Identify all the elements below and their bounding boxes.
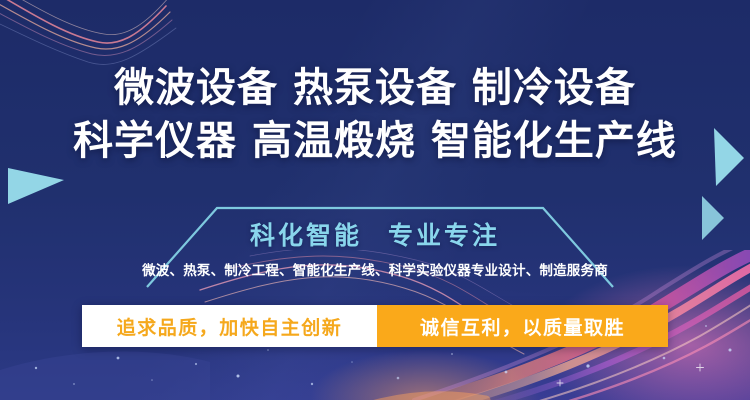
subtitle-left: 科化智能 xyxy=(250,221,362,250)
tagline-text: 微波、热泵、制冷工程、智能化生产线、科学实验仪器专业设计、制造服务商 xyxy=(0,262,750,280)
subtitle-block: 科化智能专业专注 xyxy=(0,219,750,252)
promo-banner: 微波设备 热泵设备 制冷设备 科学仪器 高温煅烧 智能化生产线 科化智能专业专注… xyxy=(0,0,750,400)
headline-block: 微波设备 热泵设备 制冷设备 科学仪器 高温煅烧 智能化生产线 xyxy=(0,62,750,168)
headline-line-1: 微波设备 热泵设备 制冷设备 xyxy=(0,62,750,115)
slogan-ribbon-right: 诚信互利，以质量取胜 xyxy=(377,305,668,347)
subtitle-right: 专业专注 xyxy=(388,221,500,250)
slogan-ribbon-left: 追求品质，加快自主创新 xyxy=(82,305,377,347)
subtitle-text: 科化智能专业专注 xyxy=(0,219,750,252)
tagline-block: 微波、热泵、制冷工程、智能化生产线、科学实验仪器专业设计、制造服务商 xyxy=(0,262,750,280)
slogan-ribbons: 追求品质，加快自主创新 诚信互利，以质量取胜 xyxy=(82,305,668,347)
headline-line-2: 科学仪器 高温煅烧 智能化生产线 xyxy=(0,115,750,168)
